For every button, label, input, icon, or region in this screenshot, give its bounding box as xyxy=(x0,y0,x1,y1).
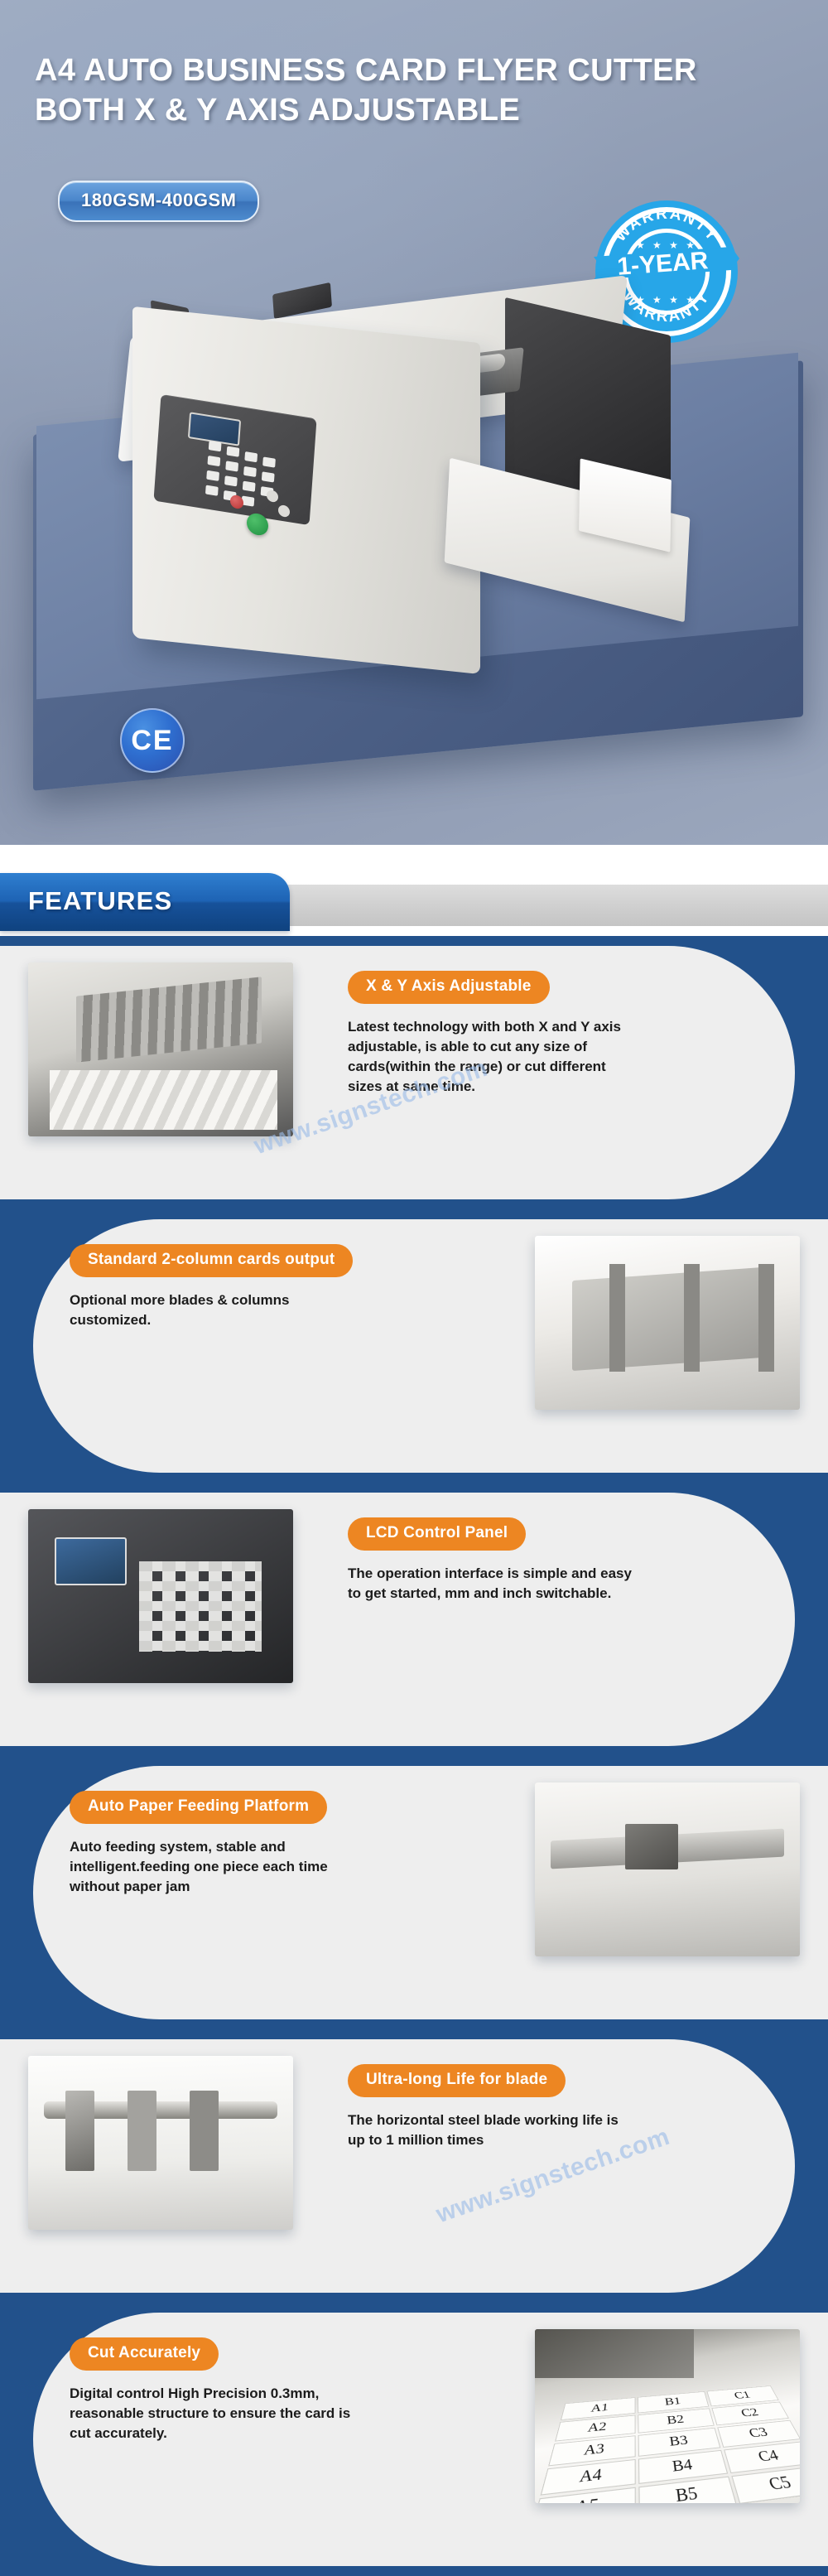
feature-text-block: Cut Accurately Digital control High Prec… xyxy=(70,2337,417,2443)
feature-text-block: X & Y Axis Adjustable Latest technology … xyxy=(348,971,696,1097)
feature-text-block: LCD Control Panel The operation interfac… xyxy=(348,1517,696,1604)
feature-row-1: X & Y Axis Adjustable Latest technology … xyxy=(0,936,828,1209)
feature-row-2: Standard 2-column cards output Optional … xyxy=(0,1209,828,1483)
feature-row-4: Auto Paper Feeding Platform Auto feeding… xyxy=(0,1756,828,2029)
feature-text-block: Ultra-long Life for blade The horizontal… xyxy=(348,2064,696,2150)
feature-body-text: Latest technology with both X and Y axis… xyxy=(348,1017,638,1097)
feature-body-text: Digital control High Precision 0.3mm, re… xyxy=(70,2384,359,2443)
feature-title-pill: Ultra-long Life for blade xyxy=(348,2064,566,2097)
card-cell: C1 xyxy=(706,2385,778,2406)
feature-title-pill: LCD Control Panel xyxy=(348,1517,526,1551)
feature-body-text: Optional more blades & columns customize… xyxy=(70,1290,359,1330)
feature-body-text: The operation interface is simple and ea… xyxy=(348,1564,638,1604)
feature-title-pill: Auto Paper Feeding Platform xyxy=(70,1791,327,1824)
page-title: A4 AUTO BUSINESS CARD FLYER CUTTER BOTH … xyxy=(35,51,763,131)
feature-body-text: The horizontal steel blade working life … xyxy=(348,2110,638,2150)
title-line-2: BOTH X & Y AXIS ADJUSTABLE xyxy=(35,91,763,131)
blades-closeup-photo xyxy=(28,962,293,1136)
feature-row-6: A1 B1 C1 A2 B2 C2 A3 B3 C3 A4 B4 C4 A5 B… xyxy=(0,2303,828,2576)
features-banner: FEATURES xyxy=(0,845,828,936)
product-infographic-page: A4 AUTO BUSINESS CARD FLYER CUTTER BOTH … xyxy=(0,0,828,2576)
cut-cards-grid: A1 B1 C1 A2 B2 C2 A3 B3 C3 A4 B4 C4 A5 B… xyxy=(535,2385,800,2503)
feature-row-5: Ultra-long Life for blade The horizontal… xyxy=(0,2029,828,2303)
hero-section: A4 AUTO BUSINESS CARD FLYER CUTTER BOTH … xyxy=(0,0,828,845)
steel-blade-assembly-photo xyxy=(28,2056,293,2230)
feature-text-block: Standard 2-column cards output Optional … xyxy=(70,1244,417,1330)
feature-title-pill: Cut Accurately xyxy=(70,2337,219,2371)
feature-body-text: Auto feeding system, stable and intellig… xyxy=(70,1837,359,1897)
feature-row-3: LCD Control Panel The operation interfac… xyxy=(0,1483,828,1756)
title-line-1: A4 AUTO BUSINESS CARD FLYER CUTTER xyxy=(35,53,697,88)
lcd-control-panel-photo xyxy=(28,1509,293,1683)
features-label: FEATURES xyxy=(28,886,172,916)
feature-title-pill: X & Y Axis Adjustable xyxy=(348,971,550,1004)
auto-feeding-platform-photo xyxy=(535,1782,800,1956)
gsm-range-badge: 180GSM-400GSM xyxy=(58,181,259,222)
cut-cards-grid-photo: A1 B1 C1 A2 B2 C2 A3 B3 C3 A4 B4 C4 A5 B… xyxy=(535,2329,800,2503)
feature-title-pill: Standard 2-column cards output xyxy=(70,1244,353,1277)
feature-text-block: Auto Paper Feeding Platform Auto feeding… xyxy=(70,1791,417,1897)
ce-certification-icon: CE xyxy=(120,708,185,773)
features-tab: FEATURES xyxy=(0,873,290,931)
two-column-output-tray-photo xyxy=(535,1236,800,1410)
